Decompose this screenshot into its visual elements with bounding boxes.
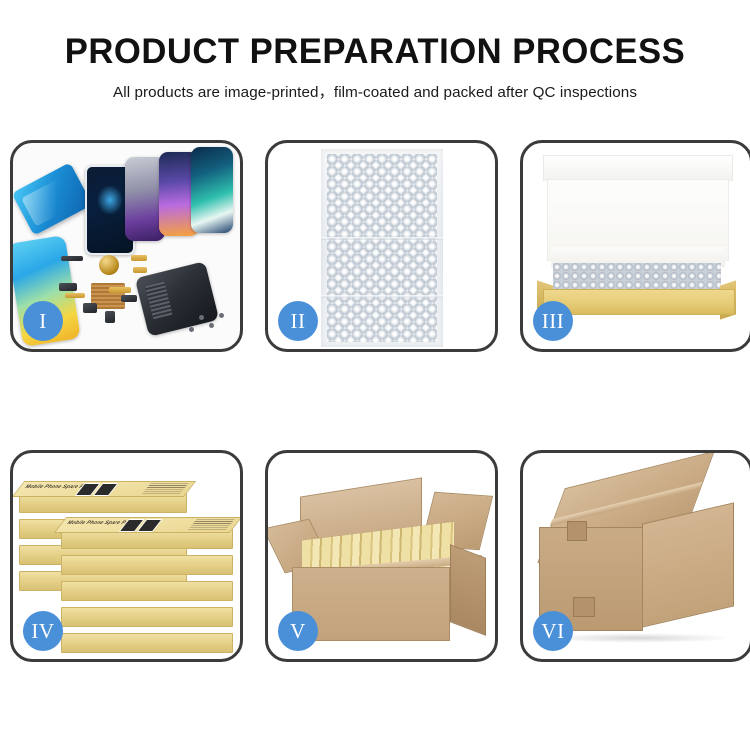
step-badge-6: VI	[533, 611, 573, 651]
screen-protector-film	[13, 162, 92, 235]
step-badge-5: V	[278, 611, 318, 651]
phone-teardown-back	[135, 261, 219, 337]
page-title: PRODUCT PREPARATION PROCESS	[4, 34, 747, 71]
wrap-seam-1	[321, 237, 443, 240]
flex-cable-2	[133, 267, 147, 273]
stacked-box-front-1: Mobile Phone Spare Parts	[61, 529, 233, 549]
wrap-seam-2	[321, 295, 443, 298]
stacked-box-rear-1: Mobile Phone Spare Parts	[19, 493, 187, 513]
bubble-pattern	[327, 154, 437, 342]
connector-part	[83, 303, 97, 313]
carton-tab-upper	[567, 521, 587, 541]
camera-part	[59, 283, 77, 291]
step-panel-2: II	[265, 140, 498, 352]
step-panel-3: III	[520, 140, 750, 352]
flex-cable-4	[65, 293, 85, 298]
header: PRODUCT PREPARATION PROCESS All products…	[0, 0, 750, 102]
speaker-component	[99, 255, 119, 275]
screw-3	[219, 313, 224, 318]
box-label-front-1: Mobile Phone Spare Parts	[54, 517, 240, 533]
screw-4	[189, 327, 194, 332]
step-panel-1: I	[10, 140, 243, 352]
page-subtitle: All products are image-printed，film-coat…	[0, 80, 750, 102]
step-panel-5: V	[265, 450, 498, 662]
box-lid-flap	[543, 155, 733, 181]
label-spec-lines	[141, 483, 188, 495]
carton-right-panel	[642, 502, 734, 627]
step-badge-3: III	[533, 301, 573, 341]
button-part	[105, 311, 115, 323]
stacked-box-front-5	[61, 633, 233, 653]
bubble-wrap-sheet	[321, 149, 443, 347]
screw-2	[209, 323, 214, 328]
box-front-panel	[543, 289, 735, 315]
step-badge-1: I	[23, 301, 63, 341]
flex-cable-3	[109, 287, 131, 293]
step-panel-6: VI	[520, 450, 750, 662]
step-panel-4: Mobile Phone Spare Parts Mobile Pho	[10, 450, 243, 662]
box-label-rear-1: Mobile Phone Spare Parts	[13, 481, 196, 497]
step-badge-4: IV	[23, 611, 63, 651]
bubble-wrapped-product	[553, 263, 721, 291]
flex-cable-1	[131, 255, 147, 261]
label-spec-lines	[187, 519, 234, 531]
carton-tab-lower	[573, 597, 595, 617]
earpiece-part	[61, 256, 83, 261]
stacked-box-front-3	[61, 581, 233, 601]
steps-grid: I II III	[10, 140, 740, 662]
stacked-box-front-4	[61, 607, 233, 627]
stacked-box-front-2	[61, 555, 233, 575]
bracket-part	[121, 295, 137, 302]
carton-side-panel	[450, 544, 486, 636]
step-badge-2: II	[278, 301, 318, 341]
screw-1	[199, 315, 204, 320]
phone-display-3	[191, 147, 233, 233]
infographic-page: PRODUCT PREPARATION PROCESS All products…	[0, 0, 750, 750]
